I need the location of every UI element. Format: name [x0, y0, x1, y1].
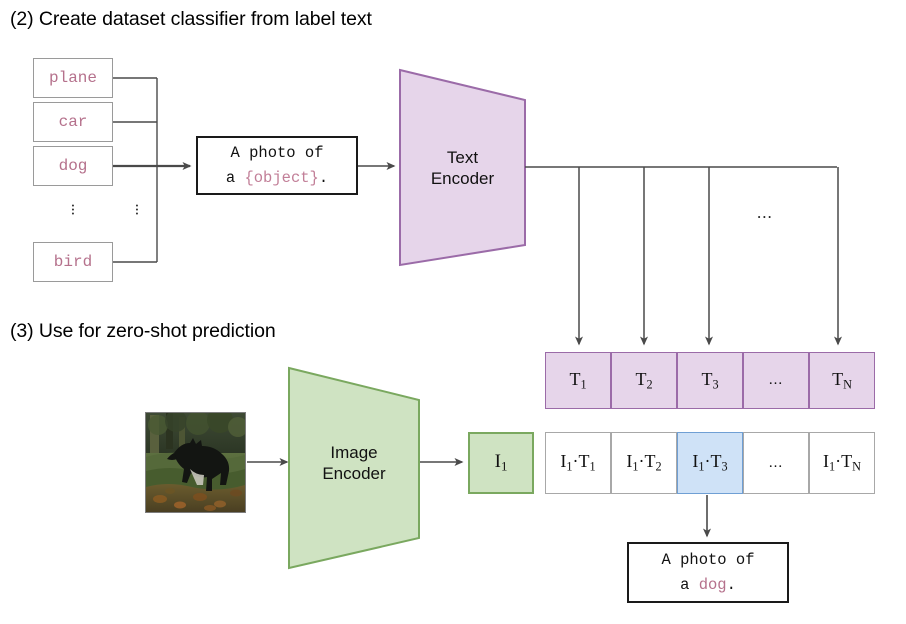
similarity-cell-n-label: I1·TN: [823, 451, 861, 474]
text-embedding-cell-3-label: T3: [701, 369, 718, 392]
image-encoder-label: Image Encoder: [295, 442, 413, 485]
prompt-template-box[interactable]: A photo of a {object}.: [196, 136, 358, 195]
image-embedding-label: I1: [495, 451, 508, 475]
similarity-cell-n[interactable]: I1·TN: [809, 432, 875, 494]
class-label-car-text: car: [59, 113, 88, 131]
text-embedding-cell-n-label: TN: [832, 369, 852, 392]
text-embedding-cell-3[interactable]: T3: [677, 352, 743, 409]
similarity-cell-1-label: I1·T1: [560, 451, 595, 474]
prediction-output-suffix: .: [727, 576, 736, 594]
text-encoder-label: Text Encoder: [405, 147, 520, 190]
class-label-plane-text: plane: [49, 69, 97, 87]
step2-title: (2) Create dataset classifier from label…: [10, 8, 372, 31]
image-encoder-label-line1: Image: [295, 442, 413, 463]
text-embedding-cell-n[interactable]: TN: [809, 352, 875, 409]
similarity-cell-3-label: I1·T3: [692, 451, 727, 474]
step3-title: (3) Use for zero-shot prediction: [10, 320, 276, 343]
prediction-output-token: dog: [699, 576, 727, 594]
label-bracket: [113, 78, 157, 262]
class-label-car[interactable]: car: [33, 102, 113, 142]
similarity-cell-2[interactable]: I1·T2: [611, 432, 677, 494]
class-label-plane[interactable]: plane: [33, 58, 113, 98]
bracket-vertical-ellipsis: ···: [130, 204, 144, 216]
text-embedding-cell-1-label: T1: [569, 369, 586, 392]
text-embedding-ellipsis-label: ...: [769, 372, 783, 389]
input-photo[interactable]: [145, 412, 246, 513]
image-embedding-cell[interactable]: I1: [468, 432, 534, 494]
diagram-canvas: (2) Create dataset classifier from label…: [0, 0, 906, 624]
text-embedding-bus: [525, 167, 838, 344]
class-label-bird[interactable]: bird: [33, 242, 113, 282]
prompt-template-token: {object}: [244, 169, 318, 187]
similarity-cell-3-selected[interactable]: I1·T3: [677, 432, 743, 494]
prompt-template-prefix: a: [226, 169, 245, 187]
prediction-output-prefix: a: [680, 576, 699, 594]
class-labels-vertical-ellipsis: ···: [66, 204, 80, 216]
class-label-dog-text: dog: [59, 157, 88, 175]
text-bus-ellipsis: ...: [757, 203, 773, 223]
prompt-template-line1: A photo of: [230, 141, 323, 165]
prediction-output-line2: a dog.: [680, 573, 736, 597]
photo-artwork: [146, 413, 245, 512]
class-label-bird-text: bird: [54, 253, 92, 271]
class-label-dog[interactable]: dog: [33, 146, 113, 186]
text-embedding-cell-2-label: T2: [635, 369, 652, 392]
similarity-cell-2-label: I1·T2: [626, 451, 661, 474]
text-encoder-label-line2: Encoder: [405, 168, 520, 189]
similarity-cell-ellipsis: ...: [743, 432, 809, 494]
prediction-output-line1: A photo of: [661, 548, 754, 572]
similarity-cell-1[interactable]: I1·T1: [545, 432, 611, 494]
prediction-output-box[interactable]: A photo of a dog.: [627, 542, 789, 603]
image-encoder-label-line2: Encoder: [295, 463, 413, 484]
text-embedding-cell-ellipsis: ...: [743, 352, 809, 409]
similarity-ellipsis-label: ...: [769, 455, 783, 472]
text-embedding-cell-1[interactable]: T1: [545, 352, 611, 409]
connector-layer: [0, 0, 906, 624]
text-embedding-cell-2[interactable]: T2: [611, 352, 677, 409]
text-encoder-label-line1: Text: [405, 147, 520, 168]
prompt-template-line2: a {object}.: [226, 166, 328, 190]
prompt-template-suffix: .: [319, 169, 328, 187]
